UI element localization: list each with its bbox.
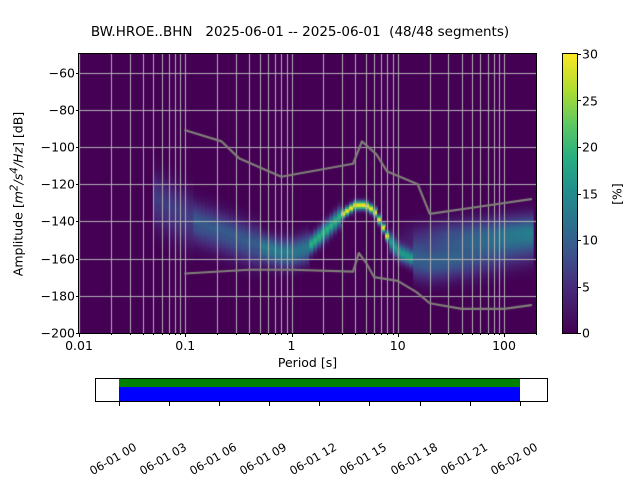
- x-axis-tick-mark: [462, 333, 463, 335]
- x-axis-tick-mark: [499, 333, 500, 335]
- colorbar-tick-label: 20: [582, 140, 598, 155]
- timeline-tick-label: 06-01 09: [237, 440, 289, 478]
- data-coverage-green: [119, 379, 520, 387]
- y-axis-tick-mark: [76, 184, 80, 185]
- x-axis-tick-mark: [236, 333, 237, 335]
- x-axis-label: Period [s]: [278, 355, 337, 370]
- timeline-tick-label: 06-01 06: [187, 440, 239, 478]
- peterson-noise-model-curves: [79, 54, 536, 333]
- timeline-tick-mark: [520, 402, 521, 406]
- x-axis-tick-mark: [480, 333, 481, 335]
- ppsd-figure: BW.HROE..BHN 2025-06-01 -- 2025-06-01 (4…: [0, 0, 640, 480]
- x-axis-tick-mark: [355, 333, 356, 335]
- x-axis-tick-mark: [217, 333, 218, 335]
- colorbar-tick-label: 10: [582, 233, 598, 248]
- x-axis-tick-label: 10: [390, 338, 406, 353]
- x-axis-tick-mark: [430, 333, 431, 335]
- x-axis-tick-mark: [393, 333, 394, 335]
- x-axis-tick-mark: [275, 333, 276, 335]
- timeline-tick-mark: [269, 402, 270, 406]
- colorbar-tick-label: 25: [582, 93, 598, 108]
- x-axis-tick-mark: [292, 333, 293, 337]
- timeline-tick-label: 06-01 15: [338, 440, 390, 478]
- x-axis-tick-mark: [504, 333, 505, 337]
- timeline-tick-label: 06-01 21: [438, 440, 490, 478]
- x-axis-tick-mark: [249, 333, 250, 335]
- colorbar-tick-label: 30: [582, 47, 598, 62]
- colorbar-tick-mark: [577, 194, 581, 195]
- timeline-tick-label: 06-02 00: [488, 440, 540, 478]
- x-axis-tick-mark: [162, 333, 163, 335]
- colorbar-tick-mark: [577, 147, 581, 148]
- y-axis-tick-label: −180: [41, 288, 75, 303]
- colorbar-tick-mark: [577, 287, 581, 288]
- timeline-tick-mark: [219, 402, 220, 406]
- x-axis-tick-mark: [381, 333, 382, 335]
- x-axis-tick-mark: [268, 333, 269, 335]
- y-axis-tick-label: −60: [49, 65, 75, 80]
- x-axis-tick-mark: [494, 333, 495, 335]
- x-axis-tick-mark: [387, 333, 388, 335]
- timeline-tick-mark: [369, 402, 370, 406]
- colorbar-tick-label: 15: [582, 186, 598, 201]
- colorbar-label: [%]: [610, 183, 625, 205]
- colorbar-tick-mark: [577, 54, 581, 55]
- x-axis-tick-label: 100: [492, 338, 516, 353]
- data-coverage-timeline[interactable]: [95, 378, 548, 402]
- timeline-tick-mark: [119, 402, 120, 406]
- x-axis-tick-mark: [180, 333, 181, 335]
- data-coverage-blue: [119, 387, 520, 401]
- y-axis-tick-mark: [76, 259, 80, 260]
- y-axis-tick-mark: [76, 110, 80, 111]
- colorbar-tick-mark: [577, 333, 581, 334]
- y-axis-tick-label: −100: [41, 140, 75, 155]
- y-axis-tick-mark: [76, 147, 80, 148]
- colorbar-tick-label: 0: [582, 326, 590, 341]
- colorbar-tick-mark: [577, 100, 581, 101]
- y-axis-tick-label: −80: [49, 102, 75, 117]
- x-axis-tick-mark: [323, 333, 324, 335]
- x-axis-tick-mark: [143, 333, 144, 335]
- timeline-tick-mark: [319, 402, 320, 406]
- colorbar-tick-label: 5: [582, 279, 590, 294]
- y-axis-tick-mark: [76, 221, 80, 222]
- y-axis-tick-label: −140: [41, 214, 75, 229]
- x-axis-tick-label: 0.01: [65, 338, 93, 353]
- y-axis-label: Amplitude [m2/s4/Hz] [dB]: [8, 112, 25, 276]
- x-axis-tick-mark: [366, 333, 367, 335]
- x-axis-tick-mark: [153, 333, 154, 335]
- x-axis-tick-mark: [169, 333, 170, 335]
- figure-title: BW.HROE..BHN 2025-06-01 -- 2025-06-01 (4…: [0, 24, 600, 40]
- x-axis-tick-mark: [281, 333, 282, 335]
- colorbar[interactable]: 051015202530: [562, 53, 578, 334]
- x-axis-tick-mark: [260, 333, 261, 335]
- timeline-tick-mark: [420, 402, 421, 406]
- x-axis-tick-mark: [79, 333, 80, 337]
- x-axis-tick-label: 0.1: [175, 338, 195, 353]
- timeline-tick-mark: [169, 402, 170, 406]
- x-axis-tick-mark: [398, 333, 399, 337]
- x-axis-tick-mark: [472, 333, 473, 335]
- x-axis-tick-mark: [185, 333, 186, 337]
- x-axis-tick-mark: [448, 333, 449, 335]
- y-axis-tick-label: −120: [41, 177, 75, 192]
- y-axis-tick-mark: [76, 296, 80, 297]
- timeline-tick-label: 06-01 03: [137, 440, 189, 478]
- x-axis-tick-mark: [536, 333, 537, 335]
- x-axis-tick-mark: [342, 333, 343, 335]
- ppsd-axes[interactable]: −60−80−100−120−140−160−180−200 0.010.111…: [78, 53, 537, 334]
- x-axis-tick-mark: [130, 333, 131, 335]
- timeline-tick-label: 06-01 12: [287, 440, 339, 478]
- x-axis-tick-mark: [111, 333, 112, 335]
- x-axis-tick-mark: [374, 333, 375, 335]
- timeline-tick-label: 06-01 18: [388, 440, 440, 478]
- x-axis-tick-mark: [287, 333, 288, 335]
- x-axis-tick-label: 1: [288, 338, 296, 353]
- x-axis-tick-mark: [488, 333, 489, 335]
- timeline-tick-label: 06-01 00: [87, 440, 139, 478]
- x-axis-tick-mark: [175, 333, 176, 335]
- y-axis-tick-mark: [76, 73, 80, 74]
- timeline-tick-mark: [470, 402, 471, 406]
- y-axis-tick-label: −160: [41, 251, 75, 266]
- colorbar-tick-mark: [577, 240, 581, 241]
